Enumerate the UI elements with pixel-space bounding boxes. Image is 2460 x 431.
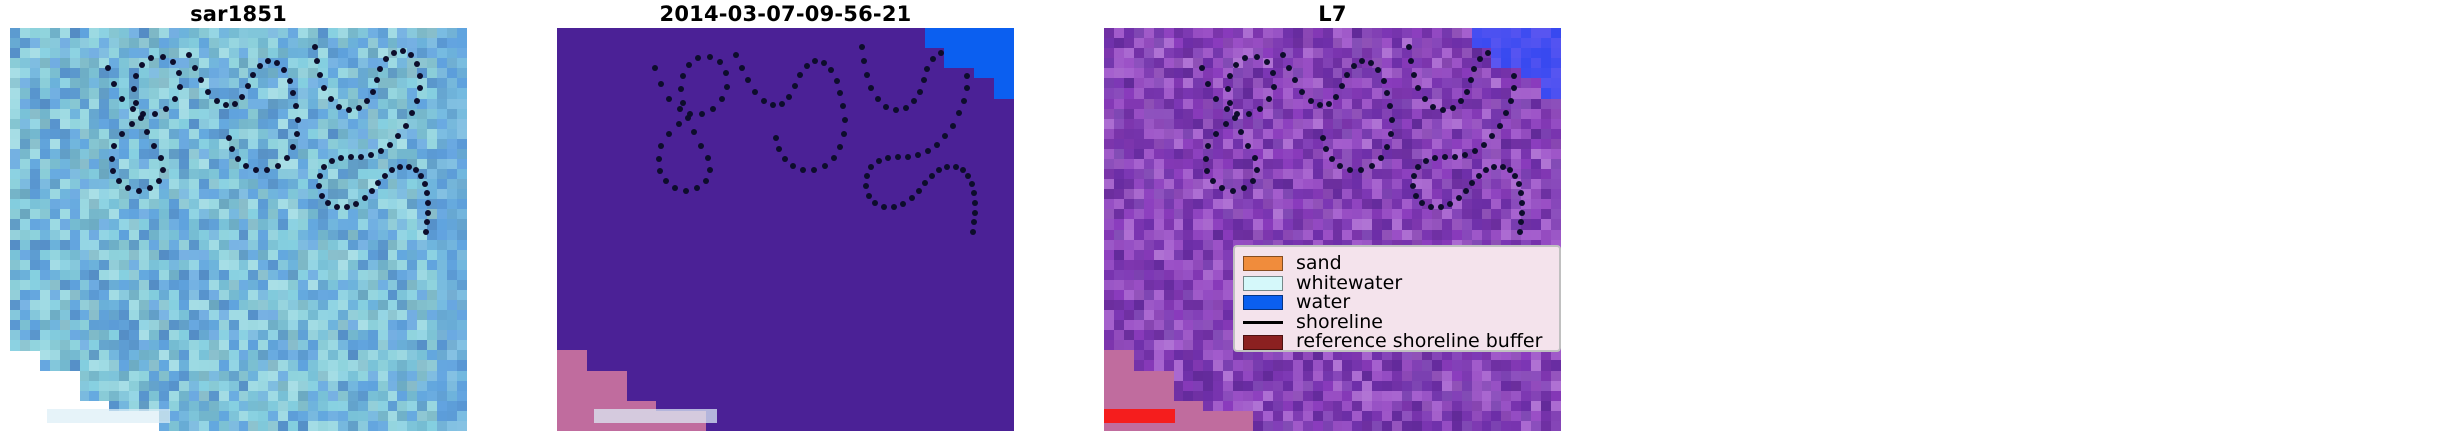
shoreline-dot: [1329, 156, 1335, 162]
shoreline-dot: [316, 183, 322, 189]
shoreline-dot: [257, 63, 263, 69]
shoreline-dot: [1497, 123, 1503, 129]
shoreline-dot: [356, 105, 362, 111]
shoreline-dot: [370, 89, 376, 95]
shoreline-dot: [1464, 89, 1470, 95]
shoreline-dot: [1388, 131, 1394, 137]
shoreline-dot: [1358, 167, 1364, 173]
shoreline-dot: [792, 83, 798, 89]
shoreline-dot: [1344, 72, 1350, 78]
shoreline-dot: [1299, 89, 1305, 95]
shoreline-dot: [264, 167, 270, 173]
shoreline-dot: [938, 50, 944, 56]
shoreline-dot: [1423, 158, 1429, 164]
shoreline-dot: [275, 163, 281, 169]
shoreline-dot: [1378, 155, 1384, 161]
shoreline-dot: [1333, 94, 1339, 100]
panel-l7: L7: [1104, 0, 1561, 431]
legend-label-reference-shoreline-buffer: reference shoreline buffer: [1296, 332, 1542, 352]
shoreline-dot: [1500, 164, 1506, 170]
shoreline-dot: [1442, 154, 1448, 160]
shoreline-dot: [1468, 77, 1474, 83]
shoreline-dot: [111, 143, 117, 149]
legend-swatch-water: [1243, 295, 1283, 310]
shoreline-dot: [1204, 168, 1210, 174]
shoreline-dot: [382, 173, 388, 179]
shoreline-dot: [119, 96, 125, 102]
shoreline-dot: [129, 121, 135, 127]
shoreline-dot: [417, 73, 423, 79]
shoreline-dot: [1483, 167, 1489, 173]
shoreline-dot: [1432, 155, 1438, 161]
shoreline-dot: [970, 229, 976, 235]
shoreline-dot: [710, 106, 716, 112]
shoreline-dot: [1450, 105, 1456, 111]
panel-title-l7: L7: [1104, 2, 1561, 26]
legend-swatch-reference-shoreline-buffer: [1243, 335, 1283, 350]
shoreline-dot: [666, 131, 672, 137]
shoreline-dot: [695, 55, 701, 61]
legend-label-water: water: [1296, 293, 1350, 313]
shoreline-dot: [876, 158, 882, 164]
shoreline-dot: [417, 85, 423, 91]
shoreline-dot: [1452, 154, 1458, 160]
shoreline-dot: [1413, 193, 1419, 199]
shoreline-dot: [119, 131, 125, 137]
shoreline-dot: [1518, 190, 1524, 196]
shoreline-dot: [804, 63, 810, 69]
legend-entry-sand: sand: [1243, 254, 1549, 274]
shoreline-dot: [229, 146, 235, 152]
shoreline-dot: [136, 188, 142, 194]
legend-swatch-sand: [1243, 256, 1283, 271]
shoreline-dot: [909, 195, 915, 201]
shoreline-dot: [960, 167, 966, 173]
shoreline-dot: [1271, 84, 1277, 90]
shoreline-dot: [170, 59, 176, 65]
shoreline-dot: [177, 84, 183, 90]
shoreline-dot: [1518, 219, 1524, 225]
shoreline-dot: [232, 101, 238, 107]
shoreline-dot: [1476, 173, 1482, 179]
shoreline-dot: [205, 89, 211, 95]
shoreline-dot: [903, 105, 909, 111]
shoreline-dot: [964, 85, 970, 91]
shoreline-dot: [284, 155, 290, 161]
raster-grid-l7: [1104, 28, 1561, 431]
shoreline-dot: [423, 229, 429, 235]
shoreline-dot: [822, 163, 828, 169]
shoreline-dot: [707, 167, 713, 173]
shoreline-dot: [1410, 183, 1416, 189]
shoreline-dot: [214, 98, 220, 104]
shoreline-dot: [116, 178, 122, 184]
shoreline-dot: [148, 55, 154, 61]
bottom-strip: [47, 409, 170, 423]
shoreline-dot: [936, 167, 942, 173]
shoreline-dot: [425, 200, 431, 206]
legend-line-shoreline: [1243, 321, 1283, 324]
shoreline-dot: [837, 144, 843, 150]
shoreline-dot: [1203, 156, 1209, 162]
shoreline-dot: [972, 200, 978, 206]
shoreline-dot: [921, 77, 927, 83]
shoreline-dot: [1381, 78, 1387, 84]
shoreline-dot: [776, 146, 782, 152]
shoreline-dot: [786, 94, 792, 100]
map-legend: sandwhitewaterwatershorelinereference sh…: [1233, 245, 1561, 352]
shoreline-dot: [1456, 195, 1462, 201]
shoreline-dot: [369, 188, 375, 194]
shoreline-dot: [186, 52, 192, 58]
shoreline-dot: [717, 59, 723, 65]
shoreline-dot: [929, 173, 935, 179]
shoreline-dot: [1254, 167, 1260, 173]
shoreline-dot: [1308, 98, 1314, 104]
panel-title-classified: 2014-03-07-09-56-21: [557, 2, 1014, 26]
shoreline-dot: [1257, 106, 1263, 112]
legend-swatch-whitewater: [1243, 276, 1283, 291]
shoreline-dot: [1213, 131, 1219, 137]
shoreline-dot: [1463, 188, 1469, 194]
shoreline-dot: [944, 164, 950, 170]
shoreline-dot: [752, 89, 758, 95]
shoreline-dot: [733, 52, 739, 58]
legend-label-sand: sand: [1296, 254, 1342, 274]
bottom-strip: [1104, 409, 1175, 423]
shoreline-dot: [800, 167, 806, 173]
shoreline-dot: [1507, 167, 1513, 173]
shoreline-dot: [192, 65, 198, 71]
shoreline-dot: [403, 123, 409, 129]
shoreline-dot: [424, 219, 430, 225]
shoreline-dot: [917, 89, 923, 95]
shoreline-dot: [374, 77, 380, 83]
shoreline-dot: [1511, 73, 1517, 79]
bottom-strip: [594, 409, 717, 423]
shoreline-dot: [739, 65, 745, 71]
shoreline-dot: [1224, 106, 1230, 112]
shoreline-dot: [812, 58, 818, 64]
shoreline-dot: [676, 121, 682, 127]
shoreline-dot: [666, 96, 672, 102]
shoreline-dot: [130, 106, 136, 112]
shoreline-dot: [971, 219, 977, 225]
shoreline-dot: [656, 156, 662, 162]
shoreline-dot: [950, 123, 956, 129]
shoreline-dot: [961, 98, 967, 104]
shoreline-dot: [319, 193, 325, 199]
shoreline-dot: [724, 84, 730, 90]
shoreline-dot: [1384, 144, 1390, 150]
shoreline-dot: [397, 164, 403, 170]
shoreline-dot: [413, 167, 419, 173]
panel-image-sar1851: [10, 28, 467, 431]
shoreline-dot: [290, 144, 296, 150]
shoreline-dot: [885, 155, 891, 161]
shoreline-dot: [916, 188, 922, 194]
shoreline-dot: [338, 155, 344, 161]
shoreline-dot: [160, 54, 166, 60]
shoreline-dot: [1323, 146, 1329, 152]
shoreline-dot: [761, 98, 767, 104]
shoreline-dot: [841, 131, 847, 137]
shoreline-dot: [389, 167, 395, 173]
shoreline-dot: [414, 61, 420, 67]
panel-sar1851: sar1851: [10, 0, 467, 431]
shoreline-dot: [329, 158, 335, 164]
shoreline-dot: [1517, 229, 1523, 235]
shoreline-dot: [1213, 96, 1219, 102]
panel-image-classified: [557, 28, 1014, 431]
shoreline-dot: [831, 155, 837, 161]
shoreline-dot: [842, 117, 848, 123]
shoreline-dot: [686, 62, 692, 68]
shoreline-dot: [875, 96, 881, 102]
shoreline-dot: [1511, 85, 1517, 91]
shoreline-dot: [1411, 72, 1417, 78]
shoreline-dot: [1280, 52, 1286, 58]
shoreline-dot: [790, 163, 796, 169]
shoreline-dot: [782, 156, 788, 162]
shoreline-dot: [1389, 117, 1395, 123]
shoreline-dot: [1422, 96, 1428, 102]
shoreline-dot: [685, 115, 691, 121]
shoreline-dot: [797, 72, 803, 78]
shoreline-dot: [657, 168, 663, 174]
shoreline-dot: [663, 178, 669, 184]
shoreline-dot: [358, 154, 364, 160]
shoreline-dot: [1233, 62, 1239, 68]
figure-canvas: sar1851 2014-03-07-09-56-21 L7 sandwhite…: [0, 0, 2460, 431]
shoreline-dot: [239, 94, 245, 100]
panel-image-l7: [1104, 28, 1561, 431]
shoreline-dot: [834, 78, 840, 84]
shoreline-dot: [243, 163, 249, 169]
shoreline-dot: [1369, 163, 1375, 169]
shoreline-dot: [317, 72, 323, 78]
shoreline-dot: [883, 104, 889, 110]
shoreline-dot: [707, 54, 713, 60]
shoreline-dot: [1223, 121, 1229, 127]
shoreline-dot: [1232, 115, 1238, 121]
shoreline-dot: [287, 78, 293, 84]
shoreline-dot: [1339, 83, 1345, 89]
shoreline-dot: [274, 60, 280, 66]
shoreline-dot: [1491, 164, 1497, 170]
shoreline-dot: [821, 60, 827, 66]
shoreline-dot: [972, 210, 978, 216]
shoreline-dot: [158, 155, 164, 161]
shoreline-dot: [1264, 59, 1270, 65]
shoreline-dot: [160, 167, 166, 173]
shoreline-dot: [1286, 65, 1292, 71]
shoreline-dot: [1254, 54, 1260, 60]
shoreline-dot: [872, 200, 878, 206]
shoreline-dot: [1419, 200, 1425, 206]
shoreline-dot: [905, 154, 911, 160]
shoreline-dot: [1242, 55, 1248, 61]
shoreline-dot: [253, 167, 259, 173]
raster-grid-sar1851: [10, 28, 467, 431]
shoreline-dot: [1485, 50, 1491, 56]
shoreline-dot: [425, 210, 431, 216]
legend-entry-water: water: [1243, 293, 1549, 313]
shoreline-dot: [658, 143, 664, 149]
shoreline-dot: [866, 193, 872, 199]
shoreline-dot: [295, 117, 301, 123]
shoreline-dot: [1347, 167, 1353, 173]
shoreline-dot: [265, 58, 271, 64]
shoreline-dot: [250, 72, 256, 78]
shoreline-dot: [1368, 60, 1374, 66]
shoreline-dot: [1326, 101, 1332, 107]
panel-classified: 2014-03-07-09-56-21: [557, 0, 1014, 431]
shoreline-dot: [362, 195, 368, 201]
legend-entry-whitewater: whitewater: [1243, 274, 1549, 294]
shoreline-dot: [1359, 58, 1365, 64]
shoreline-dot: [1252, 155, 1258, 161]
shoreline-dot: [1430, 104, 1436, 110]
shoreline-dot: [325, 200, 331, 206]
shoreline-dot: [414, 98, 420, 104]
shoreline-dot: [1508, 98, 1514, 104]
raster-grid-classified: [557, 28, 1014, 431]
shoreline-dot: [971, 190, 977, 196]
legend-entry-reference-shoreline-buffer: reference shoreline buffer: [1243, 332, 1549, 352]
shoreline-dot: [109, 156, 115, 162]
shoreline-dot: [1210, 178, 1216, 184]
shoreline-dot: [163, 106, 169, 112]
shoreline-dot: [424, 190, 430, 196]
shoreline-dot: [964, 73, 970, 79]
shoreline-dot: [406, 164, 412, 170]
shoreline-dot: [683, 188, 689, 194]
shoreline-dot: [328, 96, 334, 102]
shoreline-dot: [1337, 163, 1343, 169]
shoreline-dot: [235, 156, 241, 162]
shoreline-dot: [138, 115, 144, 121]
shoreline-dot: [895, 154, 901, 160]
shoreline-dot: [139, 62, 145, 68]
shoreline-dot: [245, 83, 251, 89]
shoreline-dot: [705, 155, 711, 161]
shoreline-dot: [1351, 63, 1357, 69]
panel-title-sar1851: sar1851: [10, 2, 467, 26]
shoreline-dot: [864, 72, 870, 78]
shoreline-dot: [294, 131, 300, 137]
shoreline-dot: [110, 168, 116, 174]
shoreline-dot: [1519, 200, 1525, 206]
shoreline-dot: [811, 167, 817, 173]
shoreline-dot: [953, 164, 959, 170]
shoreline-dot: [677, 106, 683, 112]
shoreline-dot: [1519, 210, 1525, 216]
shoreline-dot: [348, 154, 354, 160]
shoreline-dot: [336, 104, 342, 110]
shoreline-dot: [391, 50, 397, 56]
shoreline-dot: [779, 101, 785, 107]
shoreline-dot: [863, 183, 869, 189]
shoreline-dot: [1205, 143, 1211, 149]
shoreline-dot: [1230, 188, 1236, 194]
